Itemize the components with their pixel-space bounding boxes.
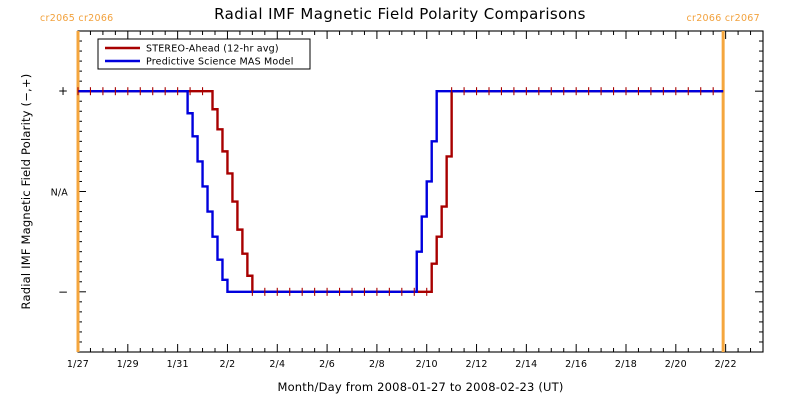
y-tick-label: + <box>58 84 68 98</box>
x-tick-label: 2/2 <box>220 359 236 370</box>
legend-label: STEREO-Ahead (12-hr avg) <box>146 44 279 55</box>
x-tick-label: 2/18 <box>615 359 637 370</box>
x-tick-label: 2/16 <box>565 359 587 370</box>
x-tick-label: 2/20 <box>665 359 687 370</box>
y-axis-title: Radial IMF Magnetic Field Polarity (−,+) <box>19 74 33 310</box>
x-tick-label: 1/31 <box>167 359 189 370</box>
x-tick-label: 1/29 <box>117 359 139 370</box>
chart-figure: Radial IMF Magnetic Field Polarity Compa… <box>0 0 800 400</box>
x-tick-label: 2/6 <box>319 359 335 370</box>
y-tick-label: N/A <box>51 188 69 199</box>
x-tick-label: 2/22 <box>715 359 737 370</box>
x-tick-label: 2/4 <box>269 359 285 370</box>
cr-label-right: cr2066 cr2067 <box>686 13 760 24</box>
cr-label-left: cr2065 cr2066 <box>40 13 114 24</box>
x-axis-title: Month/Day from 2008-01-27 to 2008-02-23 … <box>277 380 563 394</box>
plot-frame <box>78 31 763 352</box>
page-title: Radial IMF Magnetic Field Polarity Compa… <box>214 5 586 23</box>
x-tick-label: 2/12 <box>465 359 487 370</box>
x-tick-label: 2/8 <box>369 359 385 370</box>
x-tick-label: 1/27 <box>67 359 89 370</box>
x-tick-label: 2/14 <box>515 359 537 370</box>
polarity-chart: Radial IMF Magnetic Field Polarity Compa… <box>0 0 800 400</box>
y-tick-label: − <box>58 285 68 299</box>
series-line-stereo-ahead-12-hr-avg <box>78 91 723 292</box>
legend-label: Predictive Science MAS Model <box>146 57 294 68</box>
x-tick-label: 2/10 <box>416 359 438 370</box>
series-line-predictive-science-mas-model <box>78 91 723 292</box>
